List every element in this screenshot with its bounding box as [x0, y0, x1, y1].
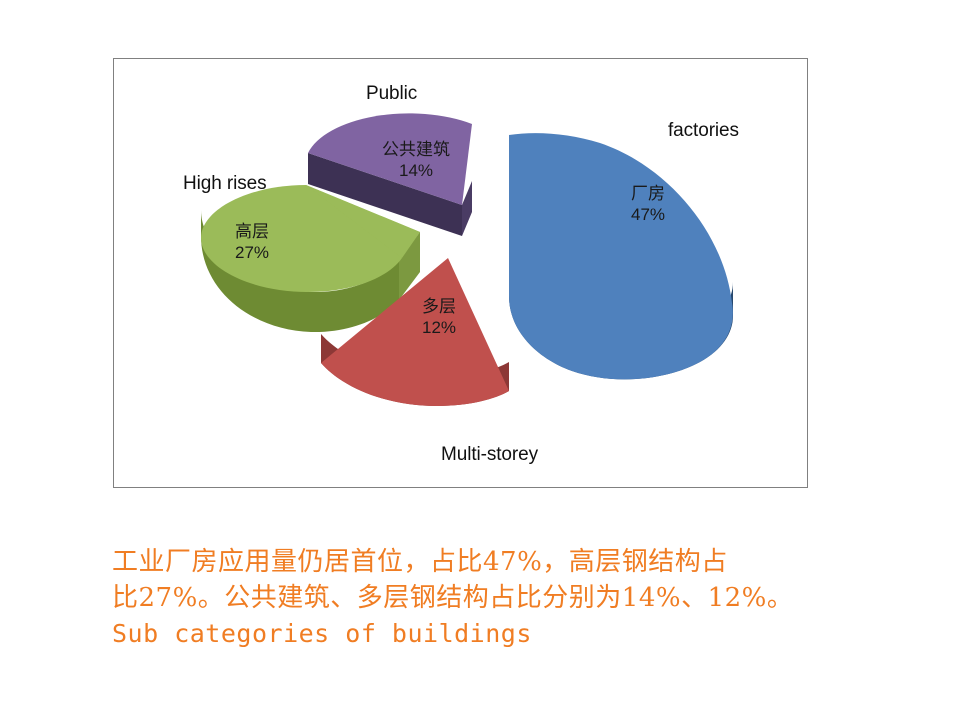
pie-slice-label-multi-storey-value: 12%: [404, 318, 474, 339]
pie-slice-label-factories-value: 47%: [611, 205, 685, 226]
caption-line-1: 工业厂房应用量仍居首位，占比47%，高层钢结构占: [112, 544, 912, 580]
pie-slice-label-factories: 厂房 47%: [611, 184, 685, 225]
pie-label-factories: factories: [668, 120, 739, 142]
pie-slice-label-public: 公共建筑 14%: [370, 140, 462, 181]
caption-block: 工业厂房应用量仍居首位，占比47%，高层钢结构占 比27%。公共建筑、多层钢结构…: [112, 544, 912, 652]
pie-slice-label-multi-storey: 多层 12%: [404, 297, 474, 338]
pie-slice-label-high-rises: 高层 27%: [216, 222, 288, 263]
pie-slice-label-public-name: 公共建筑: [370, 140, 462, 161]
caption-line-2: 比27%。公共建筑、多层钢结构占比分别为14%、12%。: [112, 580, 912, 616]
pie-label-high-rises: High rises: [183, 173, 266, 195]
pie-slice-label-factories-name: 厂房: [611, 184, 685, 205]
pie-slice-label-multi-storey-name: 多层: [404, 297, 474, 318]
pie-label-multi-storey: Multi-storey: [441, 444, 538, 466]
pie-slice-label-high-rises-name: 高层: [216, 222, 288, 243]
pie-slice-label-public-value: 14%: [370, 161, 462, 182]
pie-label-public: Public: [366, 83, 417, 105]
caption-line-3: Sub categories of buildings: [112, 616, 912, 652]
pie-slice-label-high-rises-value: 27%: [216, 243, 288, 264]
